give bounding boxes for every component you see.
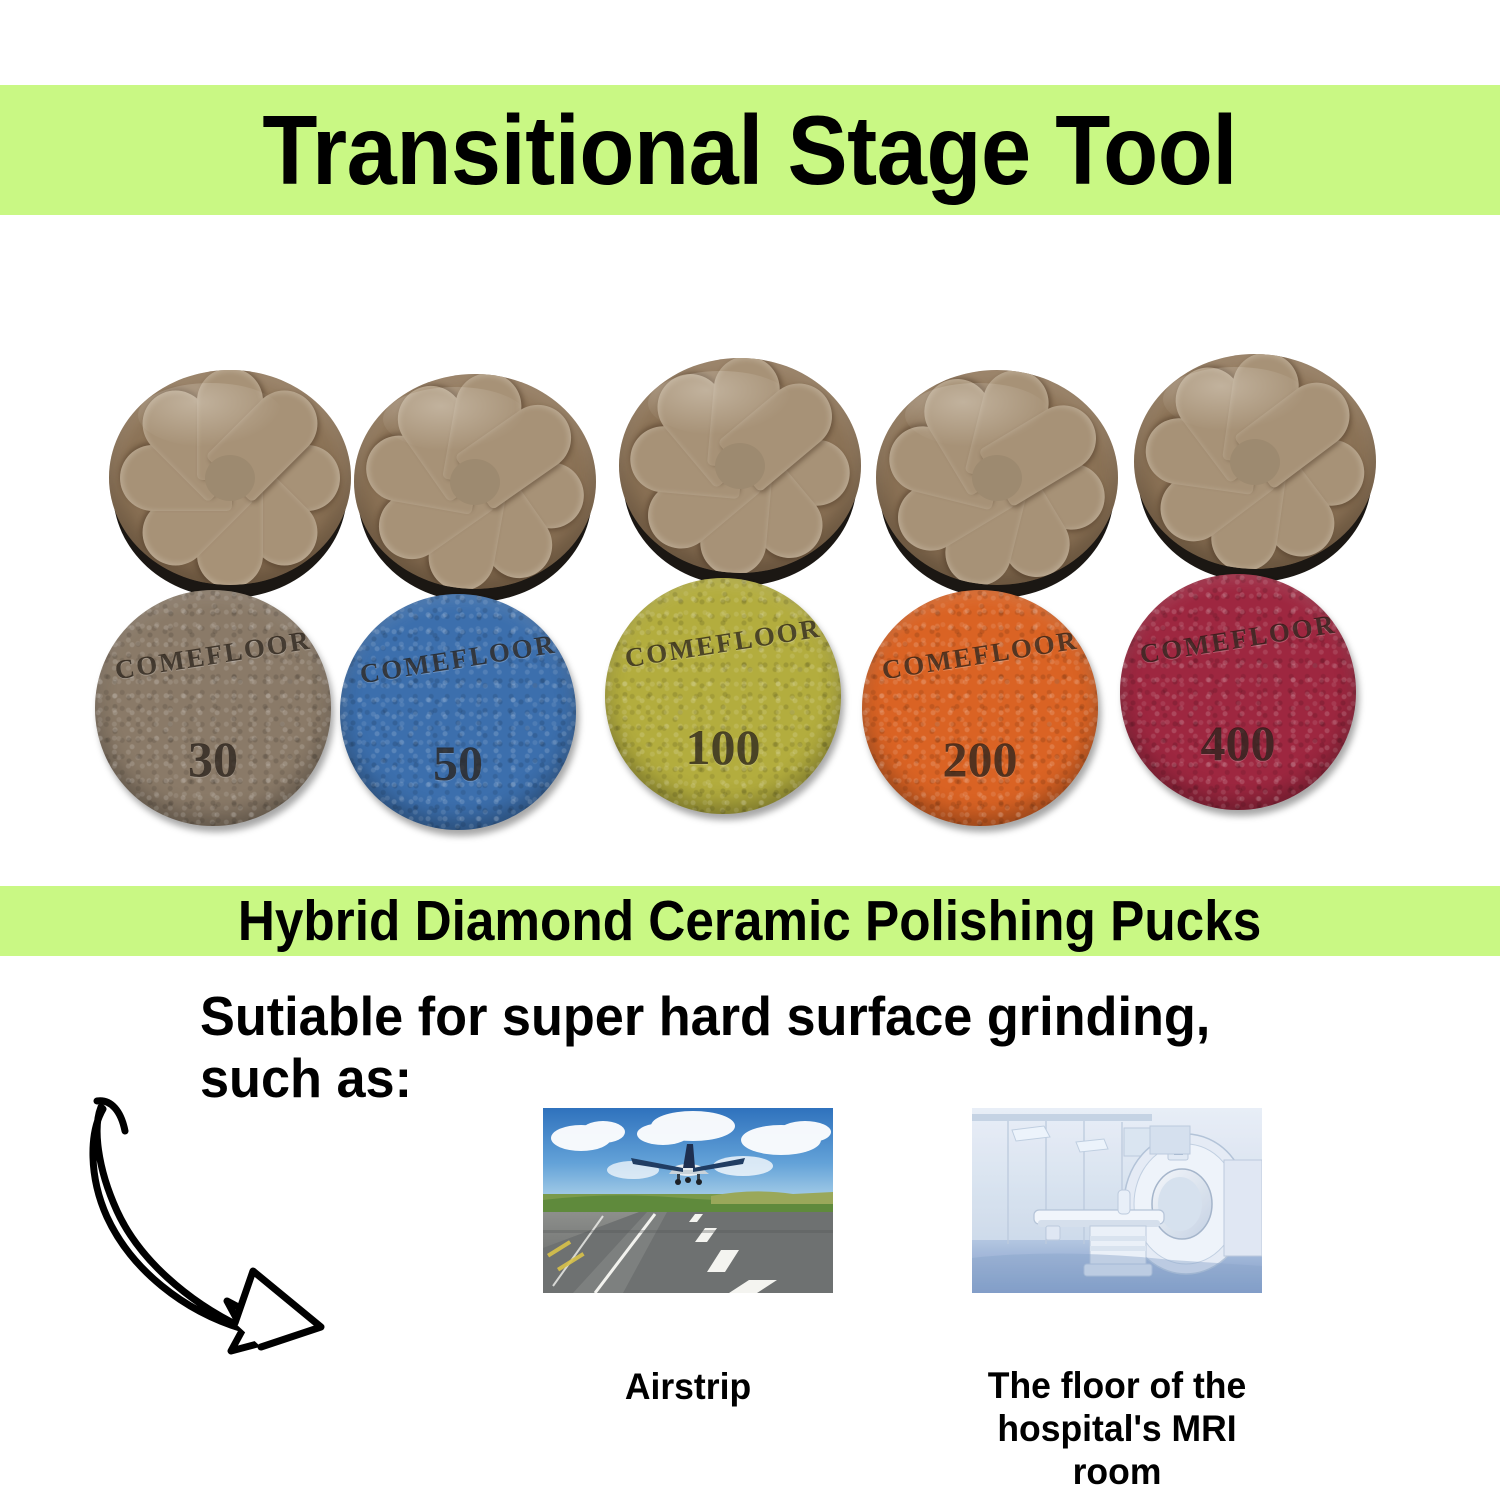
- product-photo-strip: COMEFLOOR 30 COMEFLOOR 50: [0, 330, 1500, 870]
- pad-brand-label: COMEFLOOR: [862, 622, 1098, 690]
- pad-grit-label: 30: [95, 730, 331, 788]
- pad-brand-label: COMEFLOOR: [340, 626, 576, 694]
- puck-segment-face: [109, 370, 351, 585]
- pad-brand-label: COMEFLOOR: [95, 622, 331, 690]
- puck-group-400: COMEFLOOR 400: [1120, 326, 1420, 836]
- puck-segment-face: [1134, 354, 1376, 569]
- page-title: Transitional Stage Tool: [263, 101, 1238, 199]
- pad-brand-label: COMEFLOOR: [605, 610, 841, 678]
- grinding-puck-200: [876, 370, 1118, 598]
- puck-group-100: COMEFLOOR 100: [605, 330, 905, 840]
- puck-hub: [972, 455, 1022, 501]
- puck-hub: [715, 443, 765, 489]
- puck-hub: [205, 455, 255, 501]
- pad-brand-label: COMEFLOOR: [1120, 606, 1356, 674]
- puck-hub: [1230, 439, 1280, 485]
- example-caption-airstrip: Airstrip: [549, 1366, 827, 1409]
- pad-grit-label: 100: [605, 718, 841, 776]
- curved-down-right-arrow-icon: [85, 1085, 395, 1355]
- suitability-line-1: Sutiable for super hard surface grinding…: [200, 985, 1388, 1047]
- title-banner: Transitional Stage Tool: [0, 85, 1500, 215]
- pad-grit-label: 200: [862, 730, 1098, 788]
- puck-segment-face: [354, 374, 596, 589]
- pad-grit-label: 50: [340, 734, 576, 792]
- pad-grit-label: 400: [1120, 714, 1356, 772]
- example-card-mri-room: The floor of the hospital's MRI room: [972, 1108, 1262, 1494]
- grit-pad-50: COMEFLOOR 50: [340, 594, 576, 830]
- puck-group-200: COMEFLOOR 200: [862, 342, 1162, 852]
- grit-pad-400: COMEFLOOR 400: [1120, 574, 1356, 810]
- mri-scanner-room-photo: [972, 1108, 1262, 1293]
- grit-pad-200: COMEFLOOR 200: [862, 590, 1098, 826]
- subtitle-banner: Hybrid Diamond Ceramic Polishing Pucks: [0, 886, 1500, 956]
- grinding-puck-50: [354, 374, 596, 602]
- puck-group-50: COMEFLOOR 50: [340, 346, 640, 856]
- puck-segment-face: [876, 370, 1118, 585]
- grinding-puck-30: [109, 370, 351, 598]
- grinding-puck-400: [1134, 354, 1376, 582]
- subtitle-text: Hybrid Diamond Ceramic Polishing Pucks: [238, 893, 1261, 950]
- grit-pad-30: COMEFLOOR 30: [95, 590, 331, 826]
- airplane-landing-on-runway-photo: [543, 1108, 833, 1293]
- example-card-airstrip: Airstrip: [543, 1108, 833, 1409]
- grit-pad-100: COMEFLOOR 100: [605, 578, 841, 814]
- puck-segment-face: [619, 358, 861, 573]
- example-caption-mri-room: The floor of the hospital's MRI room: [978, 1365, 1256, 1494]
- puck-hub: [450, 459, 500, 505]
- grinding-puck-100: [619, 358, 861, 586]
